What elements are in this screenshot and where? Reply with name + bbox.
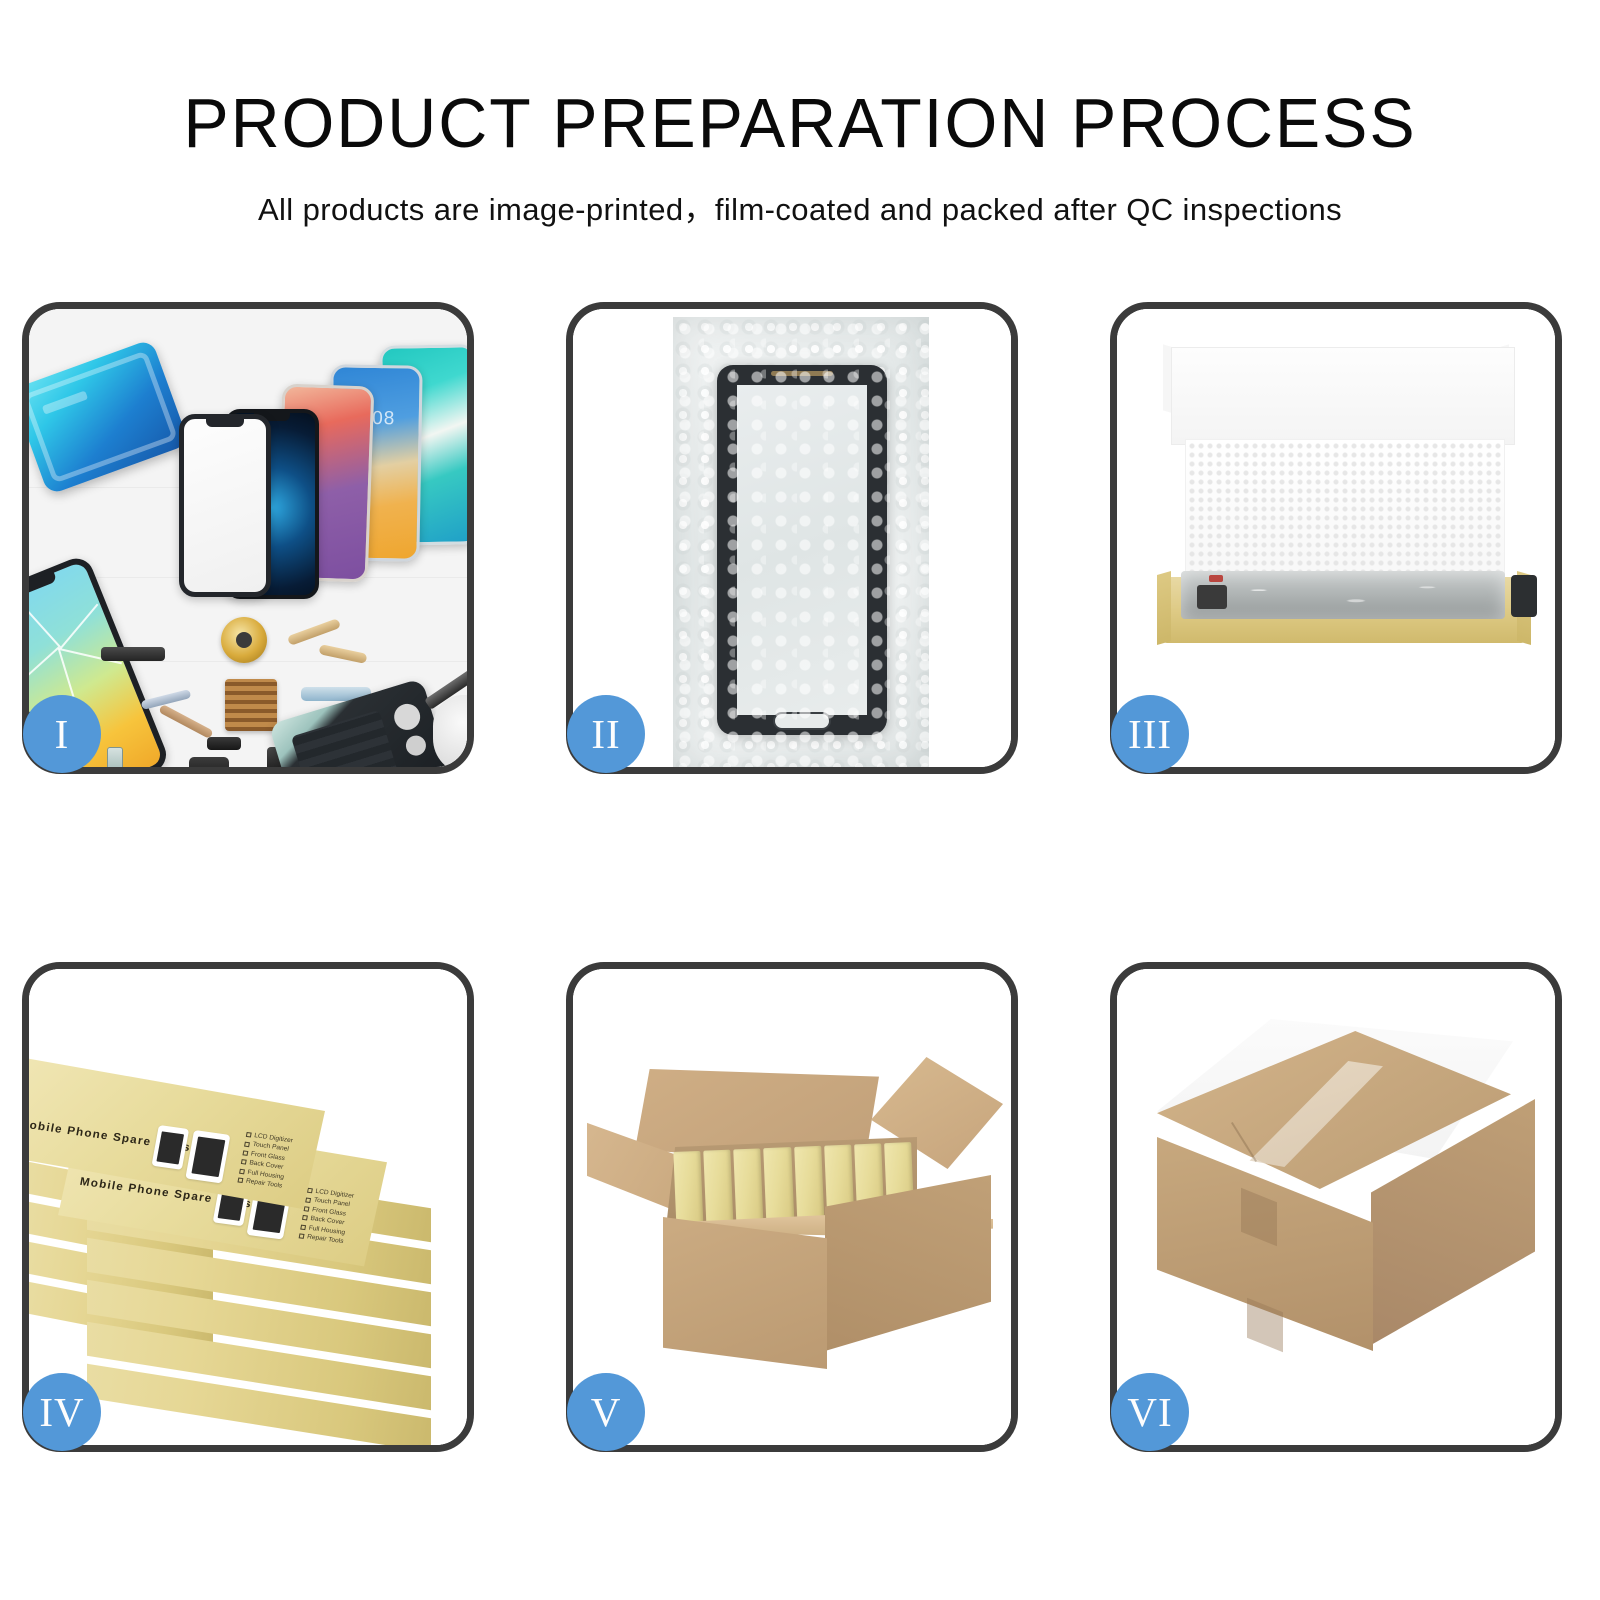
carton-front-face	[663, 1217, 827, 1369]
step-2-image	[573, 309, 1011, 767]
step-panel-5[interactable]: V	[566, 962, 1018, 1452]
product-preparation-infographic: PRODUCT PREPARATION PROCESS All products…	[0, 0, 1600, 1600]
notch	[206, 418, 244, 427]
step-badge-4: IV	[23, 1373, 101, 1451]
ic-chip-part	[225, 679, 277, 731]
screen-connector	[1197, 585, 1227, 609]
step-1-image: 08 08	[29, 309, 467, 767]
wireless-charging-coil	[221, 617, 267, 663]
step-panel-2[interactable]: II	[566, 302, 1018, 774]
step-6-image	[1117, 969, 1555, 1445]
sim-tray-part	[107, 747, 123, 767]
front-glass-part	[179, 414, 271, 597]
phone-thumbnail	[185, 1130, 230, 1184]
retail-box-stack: Mobile Phone Spare Parts LCD Digitizer T…	[29, 993, 467, 1441]
step-panel-3[interactable]: III	[1110, 302, 1562, 774]
taptic-engine-part	[189, 757, 229, 767]
red-marker	[1209, 575, 1223, 582]
step-3-image	[1117, 309, 1555, 767]
retail-box-checklist-2: LCD Digitizer Touch Panel Front Glass Ba…	[298, 1186, 355, 1247]
wrapped-screen-in-box	[1181, 571, 1505, 619]
screen-edge-detail	[1511, 575, 1537, 617]
steps-grid: 08 08	[0, 0, 1600, 1600]
wrapped-screen	[717, 365, 887, 735]
notch	[29, 572, 57, 598]
step-badge-6: VI	[1111, 1373, 1189, 1451]
button-part	[207, 737, 241, 750]
step-badge-5: V	[567, 1373, 645, 1451]
foam-pad	[1185, 439, 1505, 581]
retail-box-thumbnails	[150, 1125, 230, 1184]
step-badge-1: I	[23, 695, 101, 773]
step-panel-1[interactable]: 08 08	[22, 302, 474, 774]
bubble-wrap-sheet	[673, 317, 929, 767]
step-5-image	[573, 969, 1011, 1445]
step-panel-4[interactable]: Mobile Phone Spare Parts LCD Digitizer T…	[22, 962, 474, 1452]
step-badge-3: III	[1111, 695, 1189, 773]
step-panel-6[interactable]: VI	[1110, 962, 1562, 1452]
earpiece-slot	[771, 371, 833, 376]
home-button-slot	[773, 712, 831, 730]
retail-box-checklist-1: LCD Digitizer Touch Panel Front Glass Ba…	[237, 1130, 294, 1191]
earpiece-speaker-part	[101, 647, 165, 661]
step-badge-2: II	[567, 695, 645, 773]
mailer-lid	[1171, 347, 1515, 445]
phone-thumbnail	[151, 1125, 189, 1170]
step-4-image: Mobile Phone Spare Parts LCD Digitizer T…	[29, 969, 467, 1445]
